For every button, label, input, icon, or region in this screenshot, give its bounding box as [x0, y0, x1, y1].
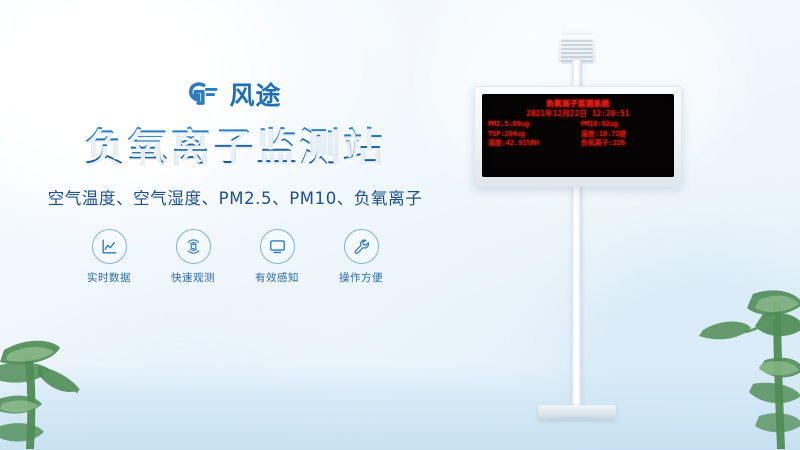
- feature-label: 有效感知: [247, 270, 307, 285]
- feature-label: 快速观测: [163, 270, 223, 285]
- page-subtitle: 空气温度、空气湿度、PM2.5、PM10、负氧离子: [0, 185, 470, 209]
- monitor-icon: [260, 229, 295, 264]
- hero-text-block: 风途 负氧离子监测站 空气温度、空气湿度、PM2.5、PM10、负氧离子 实时数…: [0, 78, 470, 285]
- led-reading-anion: 负氧离子:226: [581, 139, 668, 148]
- feature-label: 操作方便: [331, 270, 391, 285]
- line-chart-icon: [92, 229, 127, 264]
- led-reading-tsp: TSP:204ug: [488, 130, 575, 139]
- radar-scan-icon: [176, 229, 211, 264]
- feature-item-realtime-data[interactable]: 实时数据: [79, 229, 139, 285]
- feature-list: 实时数据 快速观测: [0, 229, 470, 285]
- led-display-board[interactable]: 负氧离子监测系统 2021年12月22日 12:20:51 PM2.5:69ug…: [474, 86, 682, 187]
- led-reading-pm25: PM2.5:69ug: [488, 120, 575, 129]
- brand-lockup: 风途: [0, 78, 470, 112]
- fengtu-logo-icon: [188, 80, 222, 110]
- page-title: 负氧离子监测站: [0, 126, 470, 170]
- led-reading-temp: 温度:10.72度: [581, 130, 668, 139]
- hero-banner: 风途 负氧离子监测站 空气温度、空气湿度、PM2.5、PM10、负氧离子 实时数…: [0, 0, 800, 450]
- led-display-title: 负氧离子监测系统: [488, 99, 668, 108]
- feature-label: 实时数据: [79, 270, 139, 285]
- ground-plane: [0, 364, 800, 450]
- brand-name: 风途: [229, 83, 281, 108]
- feature-item-effective-sensing[interactable]: 有效感知: [247, 229, 307, 285]
- led-readings-grid: PM2.5:69ug PM10:92ug TSP:204ug 温度:10.72度…: [488, 120, 668, 148]
- led-screen: 负氧离子监测系统 2021年12月22日 12:20:51 PM2.5:69ug…: [482, 94, 674, 177]
- base-plate-icon: [538, 405, 616, 419]
- led-datetime: 2021年12月22日 12:20:51: [488, 109, 668, 118]
- feature-item-fast-observation[interactable]: 快速观测: [163, 229, 223, 285]
- led-reading-humidity: 湿度:42.91%RH: [488, 139, 575, 148]
- feature-item-easy-operation[interactable]: 操作方便: [331, 229, 391, 285]
- wrench-icon: [344, 229, 379, 264]
- led-reading-pm10: PM10:92ug: [581, 120, 668, 129]
